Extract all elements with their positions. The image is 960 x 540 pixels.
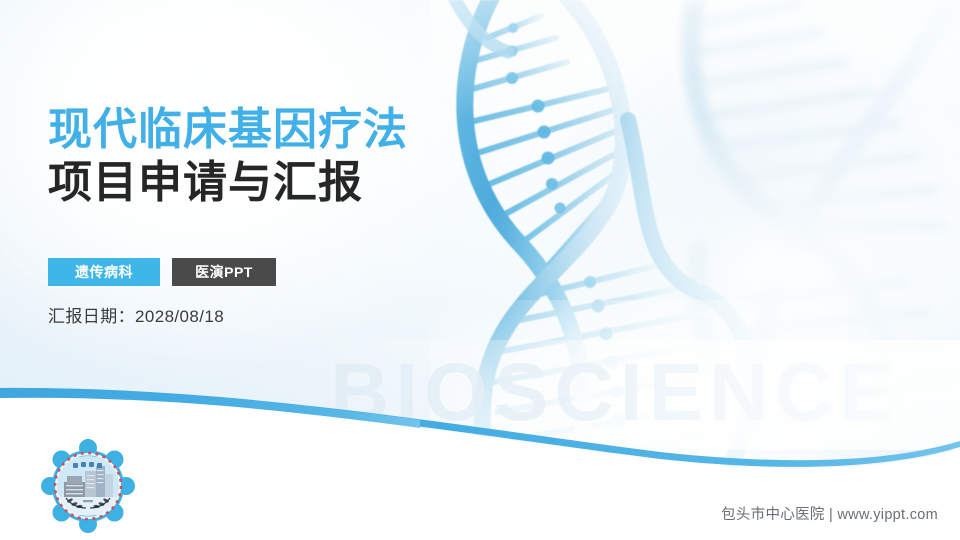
footer-credit: 包头市中心医院 | www.yippt.com bbox=[721, 503, 938, 524]
slide-canvas: BIOSCIENCE 现代临床基因疗法 项目申请与汇报 遗传病科 医演PPT 汇… bbox=[0, 0, 960, 540]
hospital-logo bbox=[40, 438, 136, 534]
wave-divider bbox=[0, 0, 960, 540]
